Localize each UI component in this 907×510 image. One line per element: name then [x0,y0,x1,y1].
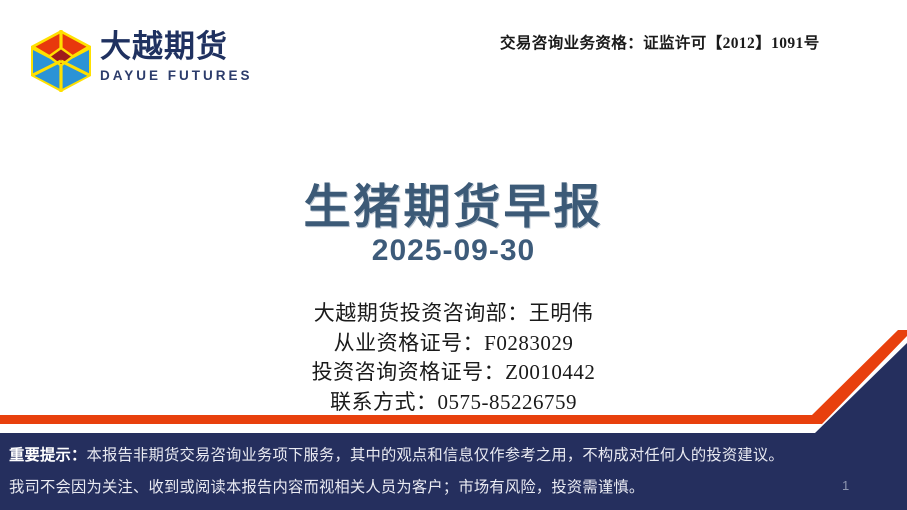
disclaimer-banner: 重要提示：本报告非期货交易咨询业务项下服务，其中的观点和信息仅作参考之用，不构成… [0,434,907,510]
disclaimer-line-1-text: 本报告非期货交易咨询业务项下服务，其中的观点和信息仅作参考之用，不构成对任何人的… [87,447,784,464]
disclaimer-line-2: 我司不会因为关注、收到或阅读本报告内容而视相关人员为客户；市场有风险，投资需谨慎… [9,475,644,497]
dayue-cube-logo-icon [28,28,94,94]
page-title: 生猪期货早报 [0,168,907,237]
disclaimer-label: 重要提示： [9,447,87,464]
slide-root: 大越期货 DAYUE FUTURES 交易咨询业务资格：证监许可【2012】10… [0,0,907,510]
page-number: 1 [842,478,849,493]
company-logo: 大越期货 DAYUE FUTURES [28,26,238,96]
report-date: 2025-09-30 [0,234,907,268]
logo-wordmark: 大越期货 DAYUE FUTURES [100,30,240,85]
qualification-statement: 交易咨询业务资格：证监许可【2012】1091号 [500,31,880,53]
logo-english-name: DAYUE FUTURES [100,67,240,85]
disclaimer-line-1: 重要提示：本报告非期货交易咨询业务项下服务，其中的观点和信息仅作参考之用，不构成… [9,443,784,465]
author-department: 大越期货投资咨询部：王明伟 [0,299,907,329]
logo-chinese-name: 大越期货 [100,30,240,64]
